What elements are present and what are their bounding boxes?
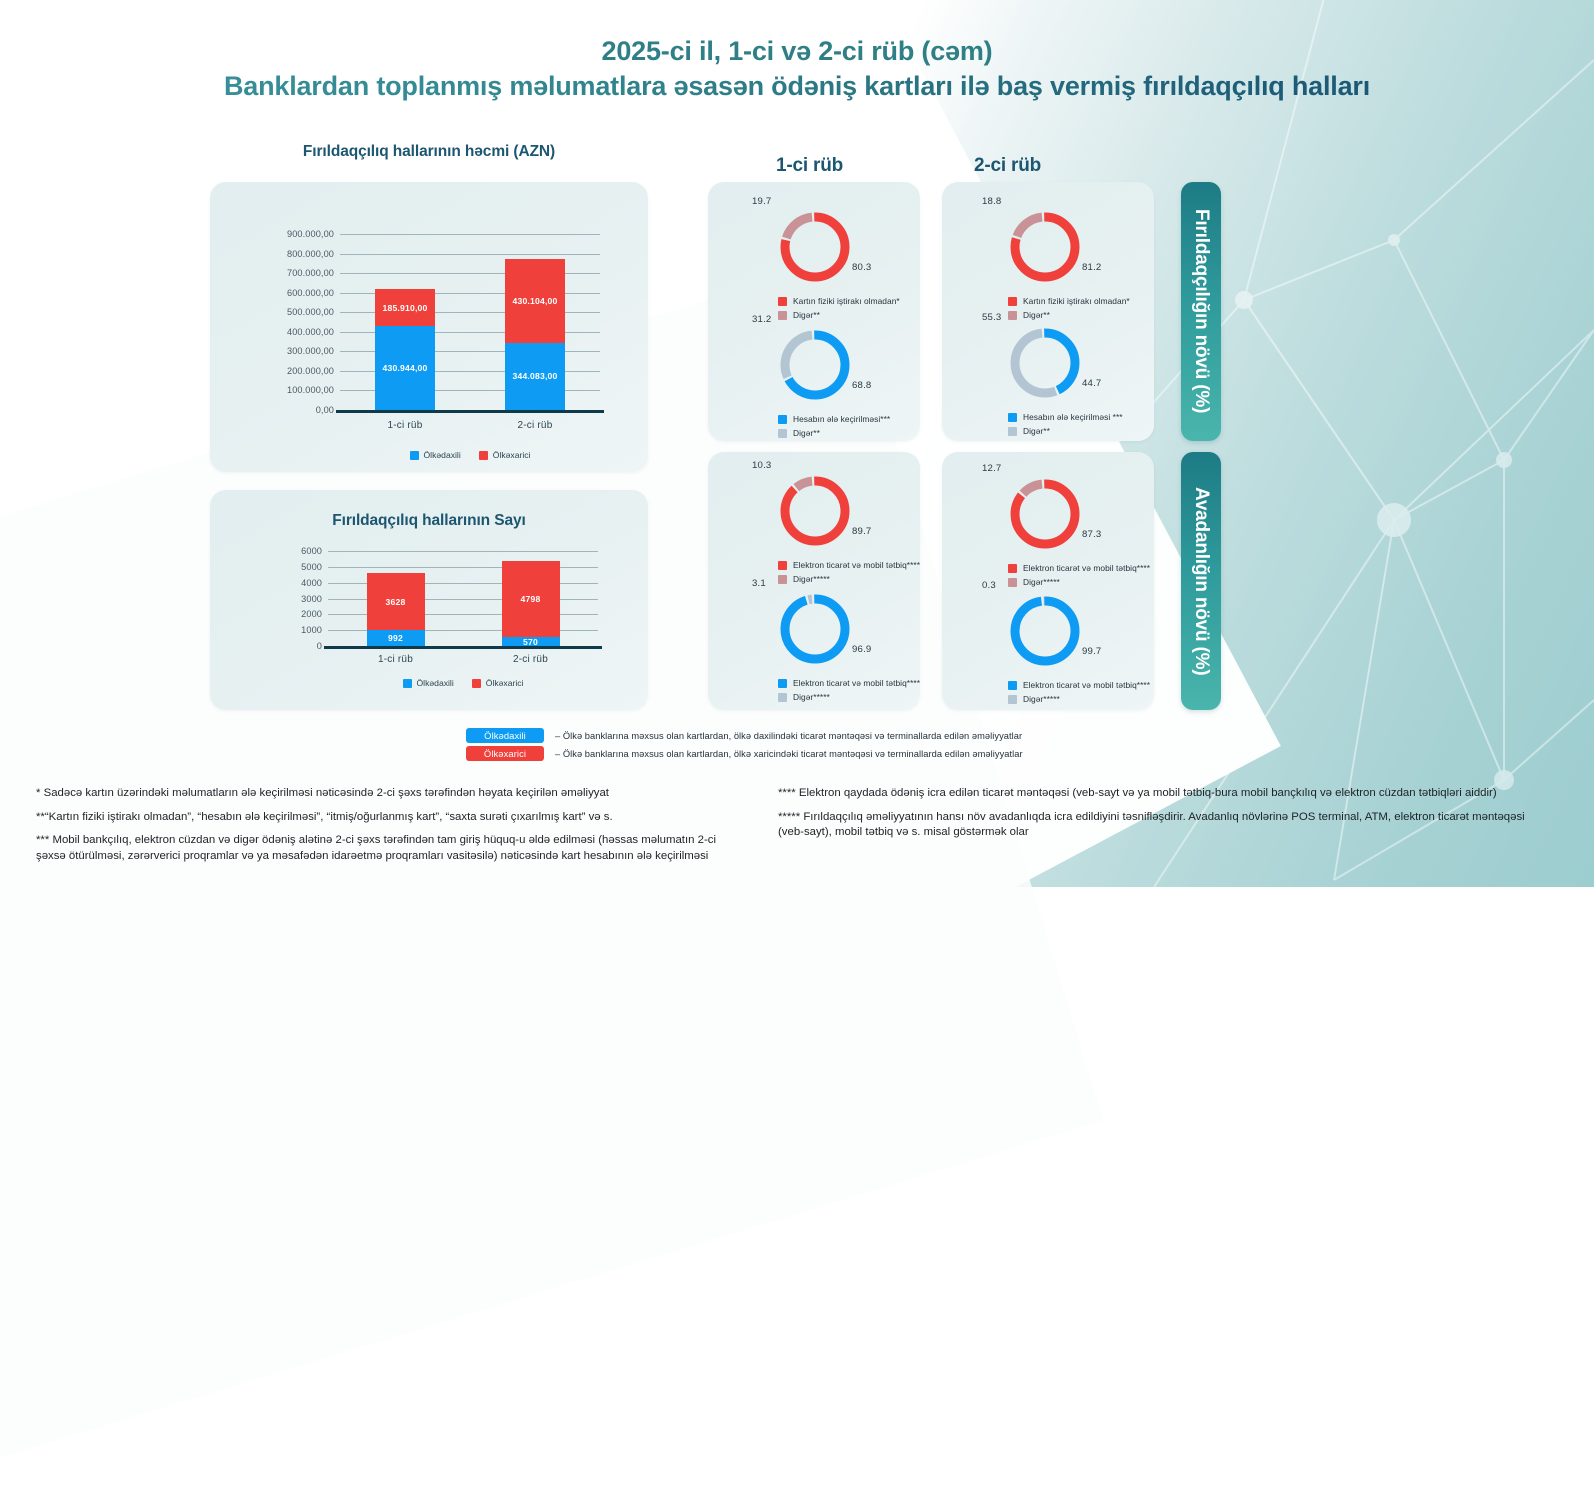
donut-fraud-type-q2-red: 81.218.8Kartın fiziki iştirakı olmadan*D… bbox=[1008, 210, 1082, 284]
legend-swatch bbox=[778, 693, 787, 702]
legend-swatch bbox=[778, 561, 787, 570]
legend-label: Ölkəxarici bbox=[493, 450, 531, 460]
legend-label: Digər** bbox=[793, 310, 820, 320]
donut-device-type-q1-blue: 96.93.1Elektron ticarət və mobil tətbiq*… bbox=[778, 592, 852, 666]
title-line-1: 2025-ci il, 1-ci və 2-ci rüb (cəm) bbox=[0, 36, 1594, 68]
y-axis-tick-label: 400.000,00 bbox=[287, 327, 334, 337]
legend-swatch bbox=[778, 311, 787, 320]
legend-item: Elektron ticarət və mobil tətbiq**** bbox=[778, 678, 920, 688]
legend-swatch bbox=[1008, 413, 1017, 422]
y-axis-tick-label: 2000 bbox=[301, 609, 322, 619]
legend-item: Elektron ticarət və mobil tətbiq**** bbox=[1008, 563, 1150, 573]
donut-device-type-q2-blue: 99.70.3Elektron ticarət və mobil tətbiq*… bbox=[1008, 594, 1082, 668]
volume-chart-title: Fırıldaqçılıq hallarının həcmi (AZN) bbox=[210, 143, 648, 161]
bar-segment: 3628 bbox=[367, 573, 425, 630]
donut-value-label-primary: 81.2 bbox=[1082, 262, 1101, 273]
side-tab-device-type: Avadanlığın növü (%) bbox=[1181, 452, 1221, 710]
legend-swatch bbox=[479, 451, 488, 460]
donut-fraud-type-q2-blue: 44.755.3Hesabın ələ keçirilməsi ***Digər… bbox=[1008, 326, 1082, 400]
bar-column: 430.944,00185.910,00 bbox=[375, 234, 435, 410]
side-tab-device-type-label: Avadanlığın növü (%) bbox=[1190, 487, 1212, 675]
bar-column: 344.083,00430.104,00 bbox=[505, 234, 565, 410]
count-plot-area: 600050004000300020001000099236281-ci rüb… bbox=[328, 551, 598, 646]
y-axis-tick-label: 900.000,00 bbox=[287, 229, 334, 239]
bar-value-label: 430.944,00 bbox=[375, 363, 435, 373]
legend-chip-olkedaxili: Ölkədaxili bbox=[466, 728, 544, 743]
legend-label: Hesabın ələ keçirilməsi*** bbox=[793, 414, 890, 424]
y-axis-tick-label: 700.000,00 bbox=[287, 268, 334, 278]
donut-value-label-primary: 87.3 bbox=[1082, 529, 1101, 540]
donut-value-label-primary: 68.8 bbox=[852, 380, 871, 391]
y-axis-tick-label: 200.000,00 bbox=[287, 366, 334, 376]
bar-value-label: 185.910,00 bbox=[375, 303, 435, 313]
donut-value-label-primary: 44.7 bbox=[1082, 378, 1101, 389]
legend-label: Digər** bbox=[793, 428, 820, 438]
y-axis-tick-label: 1000 bbox=[301, 625, 322, 635]
bar-value-label: 3628 bbox=[367, 597, 425, 607]
y-axis-tick-label: 4000 bbox=[301, 578, 322, 588]
chart-legend: ÖlkədaxiliÖlkəxarici bbox=[268, 678, 658, 688]
legend-swatch bbox=[778, 429, 787, 438]
y-axis-tick-label: 5000 bbox=[301, 562, 322, 572]
legend-item: Ölkədaxili bbox=[403, 678, 454, 688]
donut-value-label-secondary: 18.8 bbox=[982, 196, 1001, 207]
donut-ring: 99.70.3 bbox=[1008, 594, 1082, 668]
donut-ring: 80.319.7 bbox=[778, 210, 852, 284]
legend-item: Ölkədaxili bbox=[410, 450, 461, 460]
axis-line bbox=[324, 646, 602, 649]
footnotes-left: * Sadəcə kartın üzərindəki məlumatların … bbox=[36, 786, 748, 873]
donut-value-label-secondary: 19.7 bbox=[752, 196, 771, 207]
footnote-3: *** Mobil bankçılıq, elektron cüzdan və … bbox=[36, 833, 748, 864]
legend-item: Elektron ticarət və mobil tətbiq**** bbox=[778, 560, 920, 570]
legend-swatch bbox=[778, 297, 787, 306]
donut-ring: 89.710.3 bbox=[778, 474, 852, 548]
legend-item: Elektron ticarət və mobil tətbiq**** bbox=[1008, 680, 1150, 690]
device-type-q2-card: 87.312.7Elektron ticarət və mobil tətbiq… bbox=[942, 452, 1154, 710]
donut-legend: Hesabın ələ keçirilməsi ***Digər** bbox=[1008, 412, 1123, 440]
donut-ring: 96.93.1 bbox=[778, 592, 852, 666]
donut-ring: 44.755.3 bbox=[1008, 326, 1082, 400]
donut-legend: Elektron ticarət və mobil tətbiq****Digə… bbox=[1008, 680, 1150, 708]
x-axis-category-label: 1-ci rüb bbox=[351, 654, 441, 665]
legend-key-row: Ölkəxarici – Ölkə banklarına məxsus olan… bbox=[466, 746, 1023, 761]
donut-legend: Kartın fiziki iştirakı olmadan*Digər** bbox=[778, 296, 900, 324]
donut-value-label-secondary: 10.3 bbox=[752, 460, 771, 471]
legend-item: Kartın fiziki iştirakı olmadan* bbox=[778, 296, 900, 306]
bar-value-label: 992 bbox=[367, 633, 425, 643]
legend-item: Digər** bbox=[778, 310, 900, 320]
title-line-2: Banklardan toplanmış məlumatlara əsasən … bbox=[0, 68, 1594, 104]
legend-label: Kartın fiziki iştirakı olmadan* bbox=[793, 296, 900, 306]
donut-legend: Elektron ticarət və mobil tətbiq****Digə… bbox=[1008, 563, 1150, 591]
legend-item: Hesabın ələ keçirilməsi *** bbox=[1008, 412, 1123, 422]
donut-slice bbox=[785, 599, 845, 659]
page-title: 2025-ci il, 1-ci və 2-ci rüb (cəm) Bankl… bbox=[0, 36, 1594, 104]
legend-key: Ölkədaxili – Ölkə banklarına məxsus olan… bbox=[466, 728, 1023, 764]
legend-swatch bbox=[1008, 695, 1017, 704]
y-axis-tick-label: 0 bbox=[317, 641, 322, 651]
donut-value-label-secondary: 0.3 bbox=[982, 580, 996, 591]
x-axis-category-label: 2-ci rüb bbox=[490, 420, 580, 431]
volume-chart-card: 900.000,00800.000,00700.000,00600.000,00… bbox=[210, 182, 648, 472]
legend-item: Digər***** bbox=[778, 574, 920, 584]
y-axis-tick-label: 100.000,00 bbox=[287, 385, 334, 395]
legend-label: Digər***** bbox=[1023, 694, 1060, 704]
legend-label: Digər** bbox=[1023, 426, 1050, 436]
legend-swatch bbox=[778, 415, 787, 424]
donut-slice bbox=[1015, 601, 1075, 661]
legend-label: Kartın fiziki iştirakı olmadan* bbox=[1023, 296, 1130, 306]
bar-value-label: 344.083,00 bbox=[505, 371, 565, 381]
legend-label: Hesabın ələ keçirilməsi *** bbox=[1023, 412, 1123, 422]
legend-text-olkexarici: – Ölkə banklarına məxsus olan kartlardan… bbox=[555, 749, 1023, 759]
donut-value-label-primary: 99.7 bbox=[1082, 646, 1101, 657]
donut-value-label-primary: 80.3 bbox=[852, 262, 871, 273]
legend-item: Ölkəxarici bbox=[472, 678, 524, 688]
bar-column: 5704798 bbox=[502, 551, 560, 646]
side-tab-fraud-type: Fırıldaqçılığın növü (%) bbox=[1181, 182, 1221, 441]
legend-label: Elektron ticarət və mobil tətbiq**** bbox=[793, 560, 920, 570]
legend-label: Digər***** bbox=[793, 574, 830, 584]
footnotes-right: **** Elektron qaydada ödəniş icra edilən… bbox=[778, 786, 1550, 849]
donut-legend: Hesabın ələ keçirilməsi***Digər** bbox=[778, 414, 890, 442]
footnote-5: ***** Fırıldaqçılıq əməliyyatının hansı … bbox=[778, 810, 1550, 841]
legend-swatch bbox=[778, 679, 787, 688]
legend-label: Elektron ticarət və mobil tətbiq**** bbox=[1023, 680, 1150, 690]
bar-segment: 185.910,00 bbox=[375, 289, 435, 325]
axis-line bbox=[336, 410, 604, 413]
donut-fraud-type-q1-red: 80.319.7Kartın fiziki iştirakı olmadan*D… bbox=[778, 210, 852, 284]
bar-segment: 430.944,00 bbox=[375, 326, 435, 410]
legend-label: Digər***** bbox=[1023, 577, 1060, 587]
legend-swatch bbox=[1008, 297, 1017, 306]
y-axis-tick-label: 800.000,00 bbox=[287, 249, 334, 259]
legend-chip-olkexarici: Ölkəxarici bbox=[466, 746, 544, 761]
legend-label: Ölkədaxili bbox=[424, 450, 461, 460]
bar-column: 9923628 bbox=[367, 551, 425, 646]
donut-value-label-secondary: 12.7 bbox=[982, 463, 1001, 474]
bar-segment: 430.104,00 bbox=[505, 259, 565, 343]
legend-label: Ölkədaxili bbox=[417, 678, 454, 688]
bar-value-label: 570 bbox=[502, 637, 560, 647]
legend-swatch bbox=[778, 575, 787, 584]
legend-swatch bbox=[1008, 564, 1017, 573]
legend-swatch bbox=[1008, 578, 1017, 587]
y-axis-tick-label: 500.000,00 bbox=[287, 307, 334, 317]
y-axis-tick-label: 3000 bbox=[301, 594, 322, 604]
donut-value-label-primary: 96.9 bbox=[852, 644, 871, 655]
legend-text-olkedaxili: – Ölkə banklarına məxsus olan kartlardan… bbox=[555, 731, 1022, 741]
legend-swatch bbox=[410, 451, 419, 460]
donut-ring: 68.831.2 bbox=[778, 328, 852, 402]
fraud-type-q2-card: 81.218.8Kartın fiziki iştirakı olmadan*D… bbox=[942, 182, 1154, 441]
legend-item: Digər** bbox=[778, 428, 890, 438]
donut-value-label-secondary: 55.3 bbox=[982, 312, 1001, 323]
legend-swatch bbox=[1008, 311, 1017, 320]
donut-legend: Elektron ticarət və mobil tətbiq****Digə… bbox=[778, 560, 920, 588]
bar-segment: 992 bbox=[367, 630, 425, 646]
legend-item: Digər** bbox=[1008, 310, 1130, 320]
footnote-1: * Sadəcə kartın üzərindəki məlumatların … bbox=[36, 786, 748, 802]
legend-item: Digər** bbox=[1008, 426, 1123, 436]
count-chart-card: Fırıldaqçılıq hallarının Sayı 6000500040… bbox=[210, 490, 648, 710]
donut-value-label-primary: 89.7 bbox=[852, 526, 871, 537]
footnote-4: **** Elektron qaydada ödəniş icra edilən… bbox=[778, 786, 1550, 802]
legend-item: Kartın fiziki iştirakı olmadan* bbox=[1008, 296, 1130, 306]
donut-legend: Elektron ticarət və mobil tətbiq****Digə… bbox=[778, 678, 920, 706]
count-chart-title: Fırıldaqçılıq hallarının Sayı bbox=[210, 512, 648, 530]
fraud-type-q1-card: 80.319.7Kartın fiziki iştirakı olmadan*D… bbox=[708, 182, 920, 441]
legend-label: Elektron ticarət və mobil tətbiq**** bbox=[1023, 563, 1150, 573]
legend-item: Digər***** bbox=[1008, 694, 1150, 704]
donut-device-type-q2-red: 87.312.7Elektron ticarət və mobil tətbiq… bbox=[1008, 477, 1082, 551]
legend-label: Ölkəxarici bbox=[486, 678, 524, 688]
y-axis-tick-label: 6000 bbox=[301, 546, 322, 556]
y-axis-tick-label: 0,00 bbox=[316, 405, 334, 415]
bar-value-label: 4798 bbox=[502, 594, 560, 604]
quarter-1-title: 1-ci rüb bbox=[776, 155, 843, 177]
footnote-2: **“Kartın fiziki iştirakı olmadan”, “hes… bbox=[36, 810, 748, 826]
volume-plot-area: 900.000,00800.000,00700.000,00600.000,00… bbox=[340, 234, 600, 410]
donut-device-type-q1-red: 89.710.3Elektron ticarət və mobil tətbiq… bbox=[778, 474, 852, 548]
legend-swatch bbox=[472, 679, 481, 688]
donut-fraud-type-q1-blue: 68.831.2Hesabın ələ keçirilməsi***Digər*… bbox=[778, 328, 852, 402]
x-axis-category-label: 2-ci rüb bbox=[486, 654, 576, 665]
legend-key-row: Ölkədaxili – Ölkə banklarına məxsus olan… bbox=[466, 728, 1023, 743]
legend-swatch bbox=[1008, 427, 1017, 436]
legend-swatch bbox=[403, 679, 412, 688]
legend-label: Elektron ticarət və mobil tətbiq**** bbox=[793, 678, 920, 688]
donut-legend: Kartın fiziki iştirakı olmadan*Digər** bbox=[1008, 296, 1130, 324]
bar-segment: 570 bbox=[502, 637, 560, 646]
x-axis-category-label: 1-ci rüb bbox=[360, 420, 450, 431]
y-axis-tick-label: 600.000,00 bbox=[287, 288, 334, 298]
legend-item: Digər***** bbox=[778, 692, 920, 702]
legend-item: Ölkəxarici bbox=[479, 450, 531, 460]
side-tab-fraud-type-label: Fırıldaqçılığın növü (%) bbox=[1190, 209, 1212, 413]
donut-ring: 81.218.8 bbox=[1008, 210, 1082, 284]
legend-label: Digər***** bbox=[793, 692, 830, 702]
bar-value-label: 430.104,00 bbox=[505, 296, 565, 306]
quarter-2-title: 2-ci rüb bbox=[974, 155, 1041, 177]
legend-swatch bbox=[1008, 681, 1017, 690]
legend-item: Hesabın ələ keçirilməsi*** bbox=[778, 414, 890, 424]
donut-slice bbox=[785, 481, 845, 541]
y-axis-tick-label: 300.000,00 bbox=[287, 346, 334, 356]
donut-ring: 87.312.7 bbox=[1008, 477, 1082, 551]
legend-label: Digər** bbox=[1023, 310, 1050, 320]
chart-legend: ÖlkədaxiliÖlkəxarici bbox=[280, 450, 660, 460]
donut-value-label-secondary: 3.1 bbox=[752, 578, 766, 589]
legend-item: Digər***** bbox=[1008, 577, 1150, 587]
bar-segment: 344.083,00 bbox=[505, 343, 565, 410]
bar-segment: 4798 bbox=[502, 561, 560, 637]
device-type-q1-card: 89.710.3Elektron ticarət və mobil tətbiq… bbox=[708, 452, 920, 710]
donut-value-label-secondary: 31.2 bbox=[752, 314, 771, 325]
